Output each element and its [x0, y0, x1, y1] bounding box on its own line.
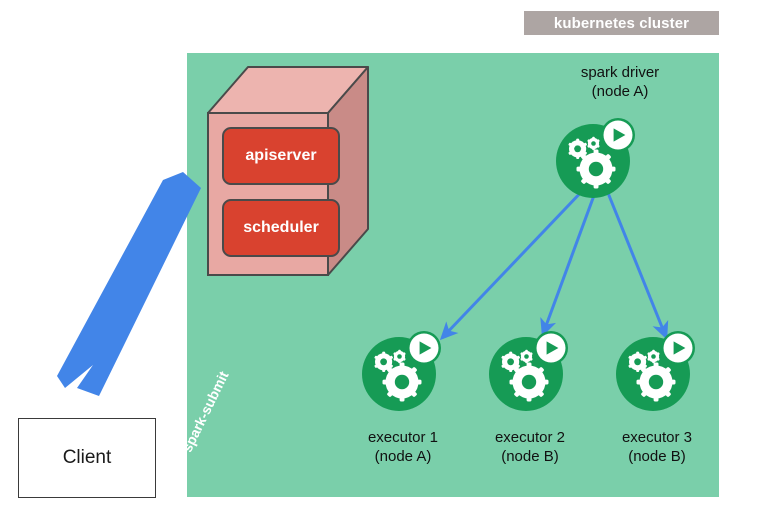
control-plane-cube: apiserver scheduler: [200, 65, 370, 277]
service-box-scheduler-label: scheduler: [243, 219, 319, 237]
gears-play-icon: [554, 117, 640, 199]
spark-driver-label: spark driver (node A): [530, 63, 710, 101]
play-button-icon: [410, 334, 439, 363]
executor-1-node: (node A): [333, 447, 473, 466]
executor-2-label: executor 2 (node B): [460, 428, 600, 466]
executor-1-name: executor 1: [333, 428, 473, 447]
large-gear-icon: [577, 150, 616, 189]
executor-2-icon[interactable]: [487, 330, 573, 412]
spark-submit-arrow-icon: [55, 160, 215, 410]
executor-1-label: executor 1 (node A): [333, 428, 473, 466]
kubernetes-cluster-badge-label: kubernetes cluster: [554, 15, 689, 32]
service-box-scheduler[interactable]: scheduler: [222, 199, 340, 257]
gears-play-icon: [487, 330, 573, 412]
spark-submit-arrow-shape: [57, 172, 201, 396]
executor-1-icon[interactable]: [360, 330, 446, 412]
play-button-icon: [604, 121, 633, 150]
spark-driver-icon[interactable]: [554, 117, 640, 199]
play-button-icon: [537, 334, 566, 363]
spark-driver-name: spark driver: [530, 63, 710, 82]
play-button-icon: [664, 334, 693, 363]
service-box-apiserver-label: apiserver: [245, 147, 316, 165]
client-box[interactable]: Client: [18, 418, 156, 498]
service-box-apiserver[interactable]: apiserver: [222, 127, 340, 185]
gears-play-icon: [360, 330, 446, 412]
executor-3-node: (node B): [587, 447, 727, 466]
kubernetes-cluster-badge: kubernetes cluster: [524, 11, 719, 35]
executor-3-label: executor 3 (node B): [587, 428, 727, 466]
gears-play-icon: [614, 330, 700, 412]
diagram-canvas: kubernetes cluster apiserver scheduler s…: [0, 0, 761, 516]
executor-2-node: (node B): [460, 447, 600, 466]
spark-submit-arrow: spark-submit: [55, 160, 215, 410]
executor-2-name: executor 2: [460, 428, 600, 447]
executor-3-icon[interactable]: [614, 330, 700, 412]
executor-3-name: executor 3: [587, 428, 727, 447]
spark-driver-node: (node A): [530, 82, 710, 101]
client-box-label: Client: [63, 447, 112, 469]
